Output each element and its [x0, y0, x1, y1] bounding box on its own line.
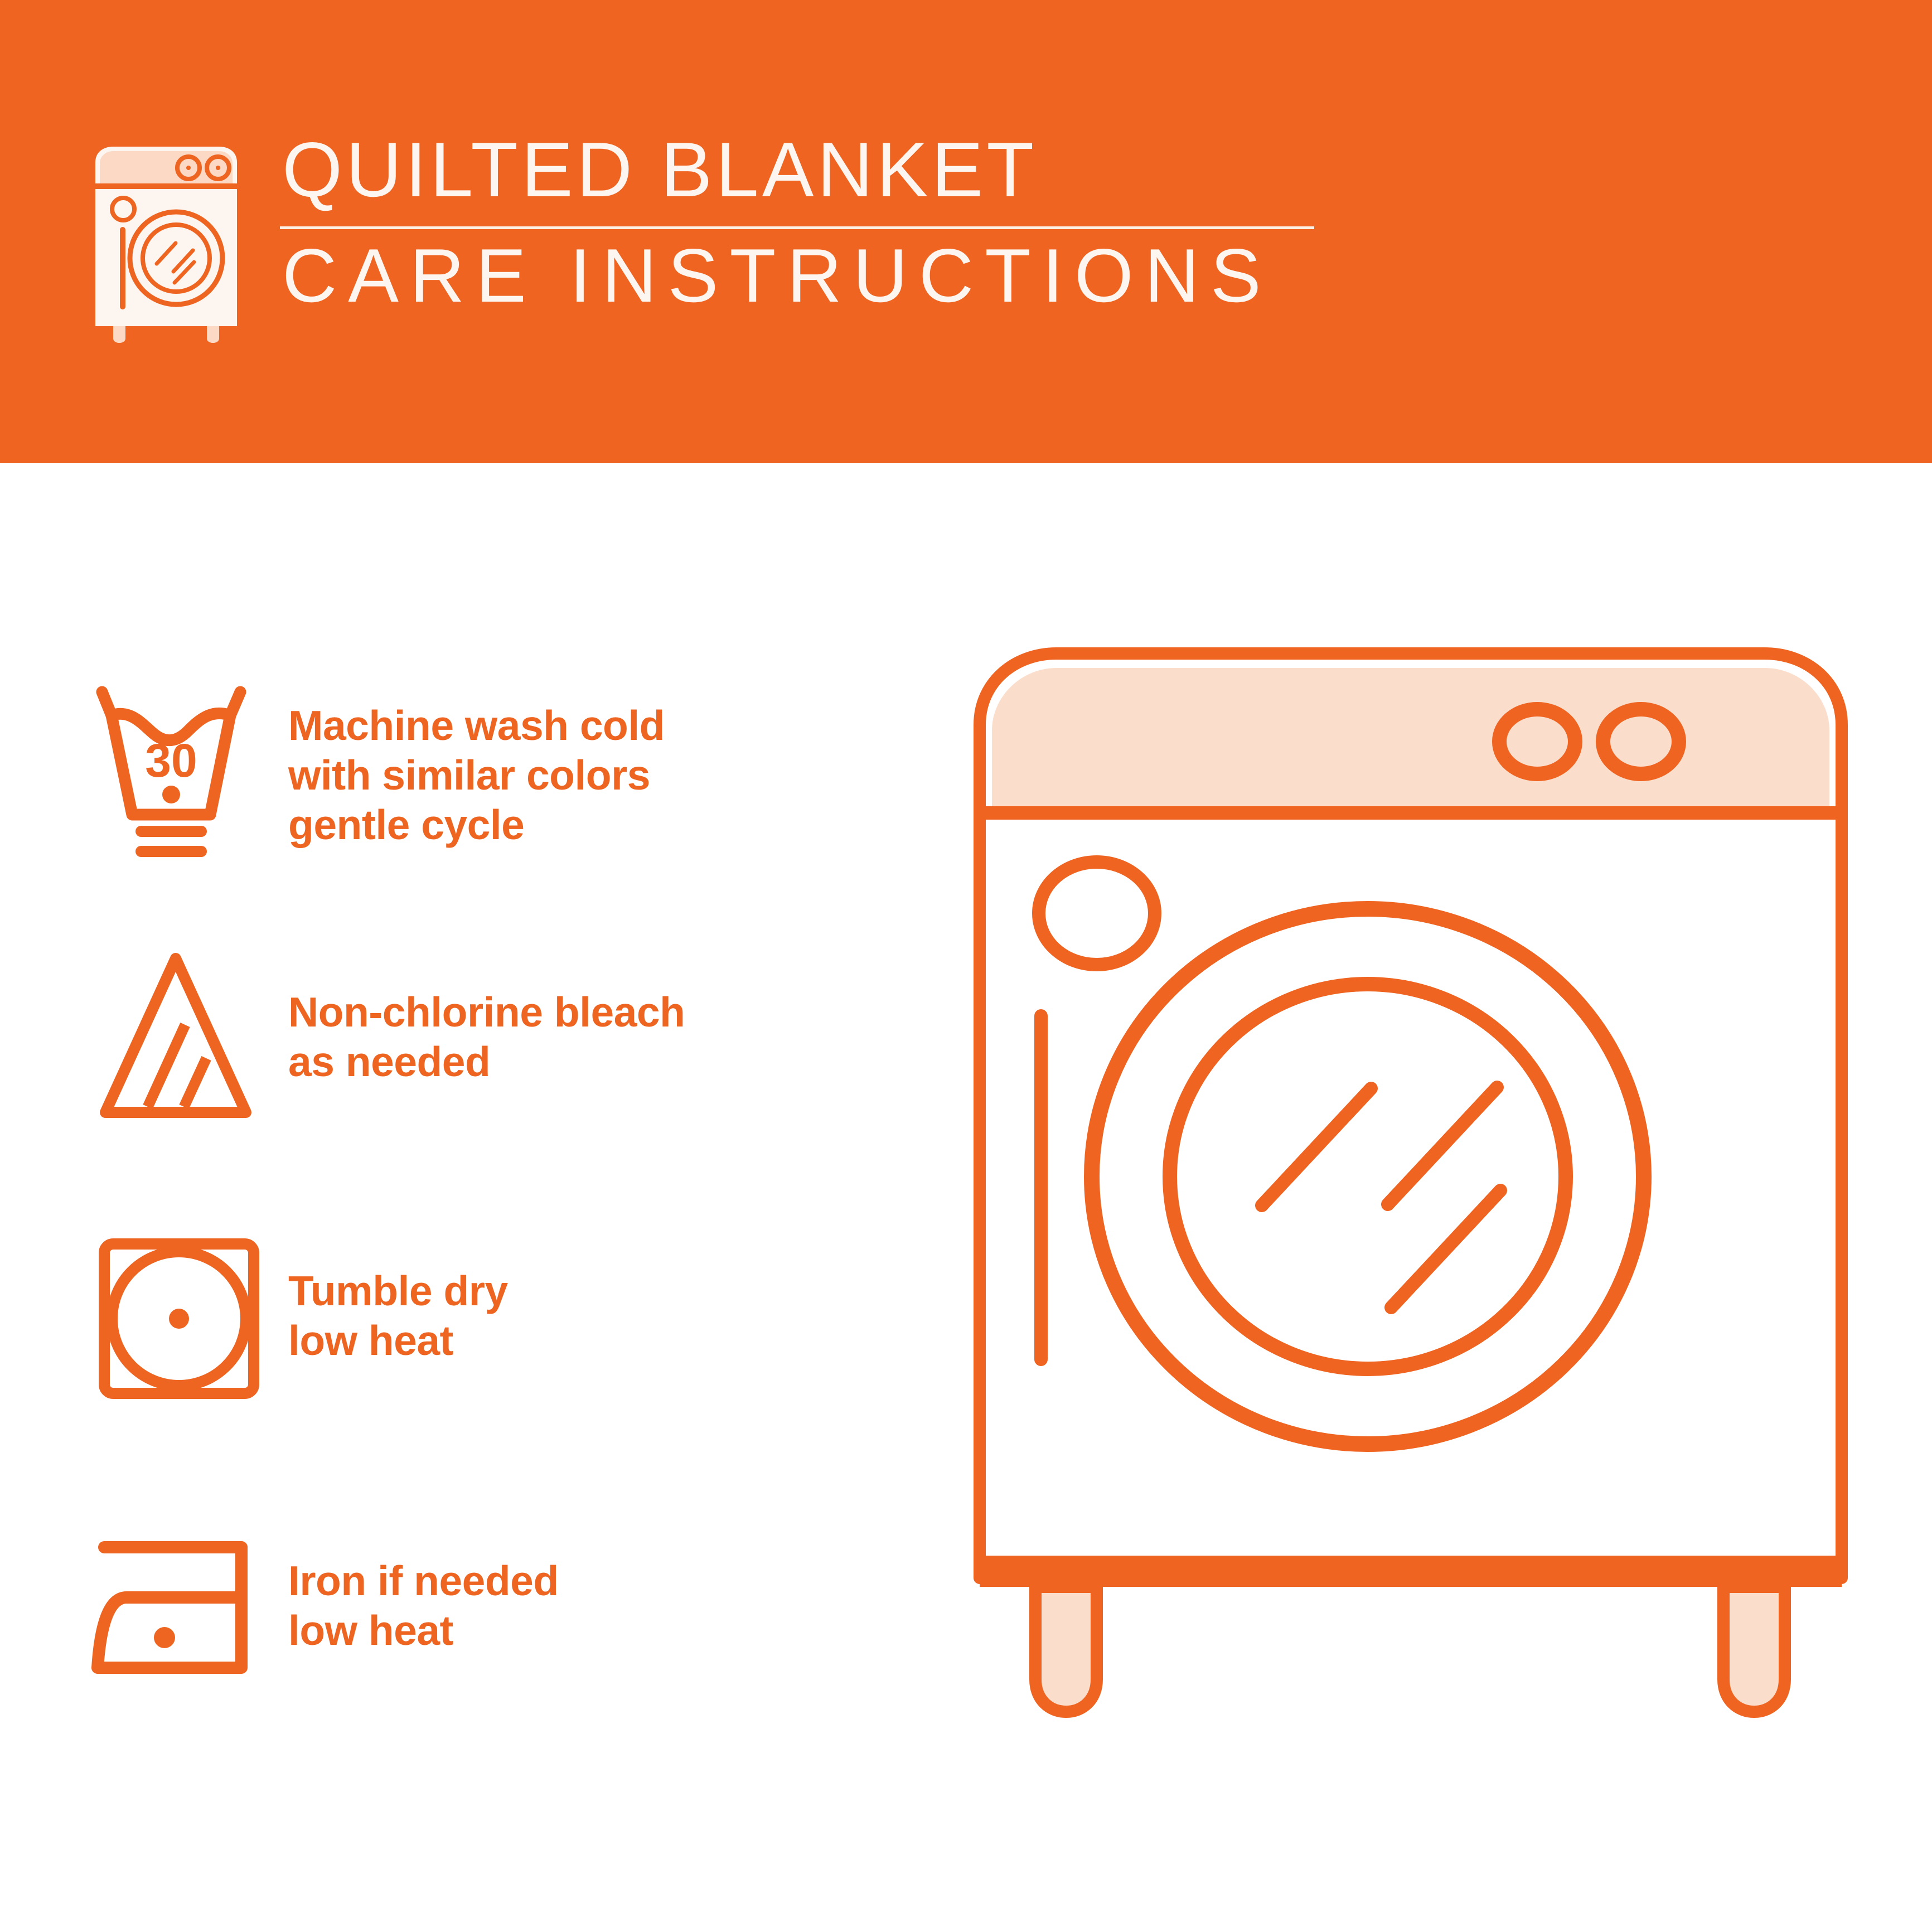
- title-divider: [280, 226, 1314, 229]
- care-text-line: low heat: [288, 1606, 559, 1655]
- care-instruction-row: Iron if needed low heat: [0, 1500, 937, 1712]
- care-text-line: as needed: [288, 1037, 685, 1087]
- machine-leg-right: [1723, 1587, 1785, 1712]
- care-text-line: Iron if needed: [288, 1556, 559, 1606]
- care-text-line: low heat: [288, 1316, 508, 1366]
- care-instruction-row: 30 Machine wash cold with similar colors…: [0, 669, 937, 881]
- wash-tub-30-icon: 30: [92, 680, 259, 870]
- page-title: QUILTED BLANKET: [279, 128, 1321, 212]
- care-text-line: Tumble dry: [288, 1266, 508, 1316]
- care-instructions-poster: QUILTED BLANKET CARE INSTRUCTIONS 30: [0, 0, 1932, 1932]
- iron-low-heat-icon: [92, 1511, 259, 1701]
- care-instruction-text: Non-chlorine bleach as needed: [288, 987, 685, 1087]
- care-text-line: Machine wash cold: [288, 701, 665, 750]
- care-instruction-row: Non-chlorine bleach as needed: [0, 931, 937, 1143]
- non-chlorine-bleach-triangle-icon: [92, 942, 259, 1132]
- wash-temperature-value: 30: [145, 734, 197, 787]
- care-text-line: with similar colors: [288, 750, 665, 800]
- front-load-washing-machine-illustration: [967, 641, 1860, 1756]
- care-instruction-text: Machine wash cold with similar colors ge…: [288, 701, 665, 850]
- washing-machine-logo-icon: [91, 142, 241, 343]
- base-bar: [980, 1556, 1842, 1587]
- care-instruction-text: Tumble dry low heat: [288, 1266, 508, 1366]
- page-subtitle: CARE INSTRUCTIONS: [279, 234, 1321, 317]
- care-text-line: Non-chlorine bleach: [288, 987, 685, 1037]
- control-panel: [992, 668, 1829, 808]
- header-title-group: QUILTED BLANKET CARE INSTRUCTIONS: [279, 128, 1321, 317]
- tumble-dry-low-heat-icon: [92, 1221, 259, 1411]
- panel-separator: [980, 806, 1842, 820]
- care-instruction-row: Tumble dry low heat: [0, 1210, 937, 1422]
- machine-leg-left: [1035, 1587, 1097, 1712]
- door-handle: [1034, 1009, 1048, 1366]
- header-banner: QUILTED BLANKET CARE INSTRUCTIONS: [0, 0, 1932, 463]
- care-instruction-text: Iron if needed low heat: [288, 1556, 559, 1655]
- care-text-line: gentle cycle: [288, 800, 665, 850]
